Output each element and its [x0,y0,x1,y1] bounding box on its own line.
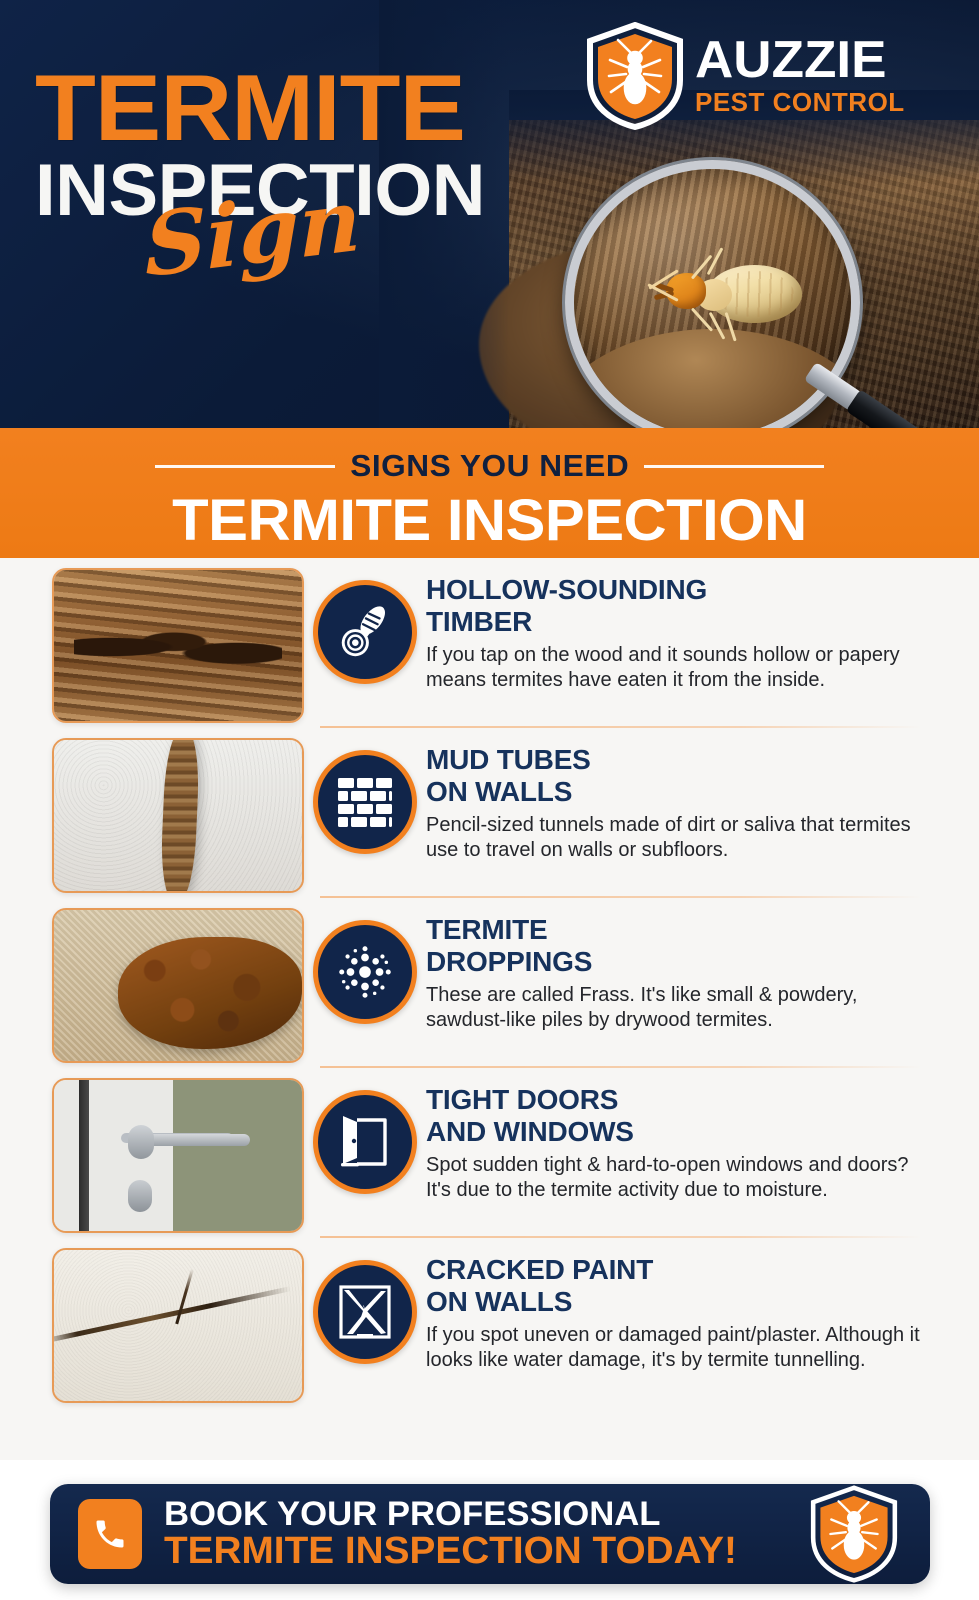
logo-brand-name: AUZZIE [695,34,909,86]
cta-banner[interactable]: BOOK YOUR PROFESSIONAL TERMITE INSPECTIO… [50,1484,930,1584]
droppings-dots-icon [313,920,417,1024]
sign-body: If you spot uneven or damaged paint/plas… [426,1323,921,1374]
sign-body: Spot sudden tight & hard-to-open windows… [426,1153,921,1204]
damaged-timber-photo [52,568,304,723]
page-title: TERMITE INSPECTION Sign [35,68,555,283]
list-item: CRACKED PAINTON WALLS If you spot uneven… [0,1238,979,1408]
section-banner: SIGNS YOU NEED TERMITE INSPECTION [0,428,979,558]
sign-title-line2: DROPPINGS [426,946,592,977]
log-timber-icon [313,580,417,684]
banner-kicker: SIGNS YOU NEED [350,448,629,484]
list-item: MUD TUBESON WALLS Pencil-sized tunnels m… [0,728,979,898]
brick-wall-icon [313,750,417,854]
magnifying-glass-icon [565,160,860,428]
sign-body: If you tap on the wood and it sounds hol… [426,643,921,694]
termite-illustration [652,255,802,341]
shield-termite-icon [808,1485,900,1583]
banner-rule-right [644,465,824,468]
sign-title-line1: TIGHT DOORS [426,1084,618,1115]
logo-tagline: PEST CONTROL [695,88,905,117]
shield-termite-icon [585,22,685,130]
cta-line-1: BOOK YOUR PROFESSIONAL [164,1497,737,1532]
hero-header: TERMITE INSPECTION Sign AUZZIE [0,0,979,428]
cracked-paint-photo [52,1248,304,1403]
mud-tube-on-wall-photo [52,738,304,893]
sign-title-line2: TIMBER [426,606,532,637]
title-line-1: TERMITE [35,68,586,149]
phone-icon [78,1499,142,1569]
sign-title-line1: TERMITE [426,914,547,945]
list-item: TERMITEDROPPINGS These are called Frass.… [0,898,979,1068]
sign-body: These are called Frass. It's like small … [426,983,921,1034]
open-door-icon [313,1090,417,1194]
termite-frass-photo [52,908,304,1063]
list-item: HOLLOW-SOUNDINGTIMBER If you tap on the … [0,558,979,728]
door-handle-photo [52,1078,304,1233]
sign-body: Pencil-sized tunnels made of dirt or sal… [426,813,921,864]
signs-list: HOLLOW-SOUNDINGTIMBER If you tap on the … [0,558,979,1460]
sign-title-line1: MUD TUBES [426,744,591,775]
cracked-wall-icon [313,1260,417,1364]
sign-title-line2: ON WALLS [426,776,572,807]
sign-title-line1: HOLLOW-SOUNDING [426,574,707,605]
banner-rule-left [155,465,335,468]
banner-headline: TERMITE INSPECTION [0,492,979,550]
cta-line-2: TERMITE INSPECTION TODAY! [164,1532,737,1571]
sign-title-line2: AND WINDOWS [426,1116,634,1147]
sign-title-line1: CRACKED PAINT [426,1254,653,1285]
brand-logo[interactable]: AUZZIE PEST CONTROL [585,22,925,130]
sign-title-line2: ON WALLS [426,1286,572,1317]
list-item: TIGHT DOORSAND WINDOWS Spot sudden tight… [0,1068,979,1238]
